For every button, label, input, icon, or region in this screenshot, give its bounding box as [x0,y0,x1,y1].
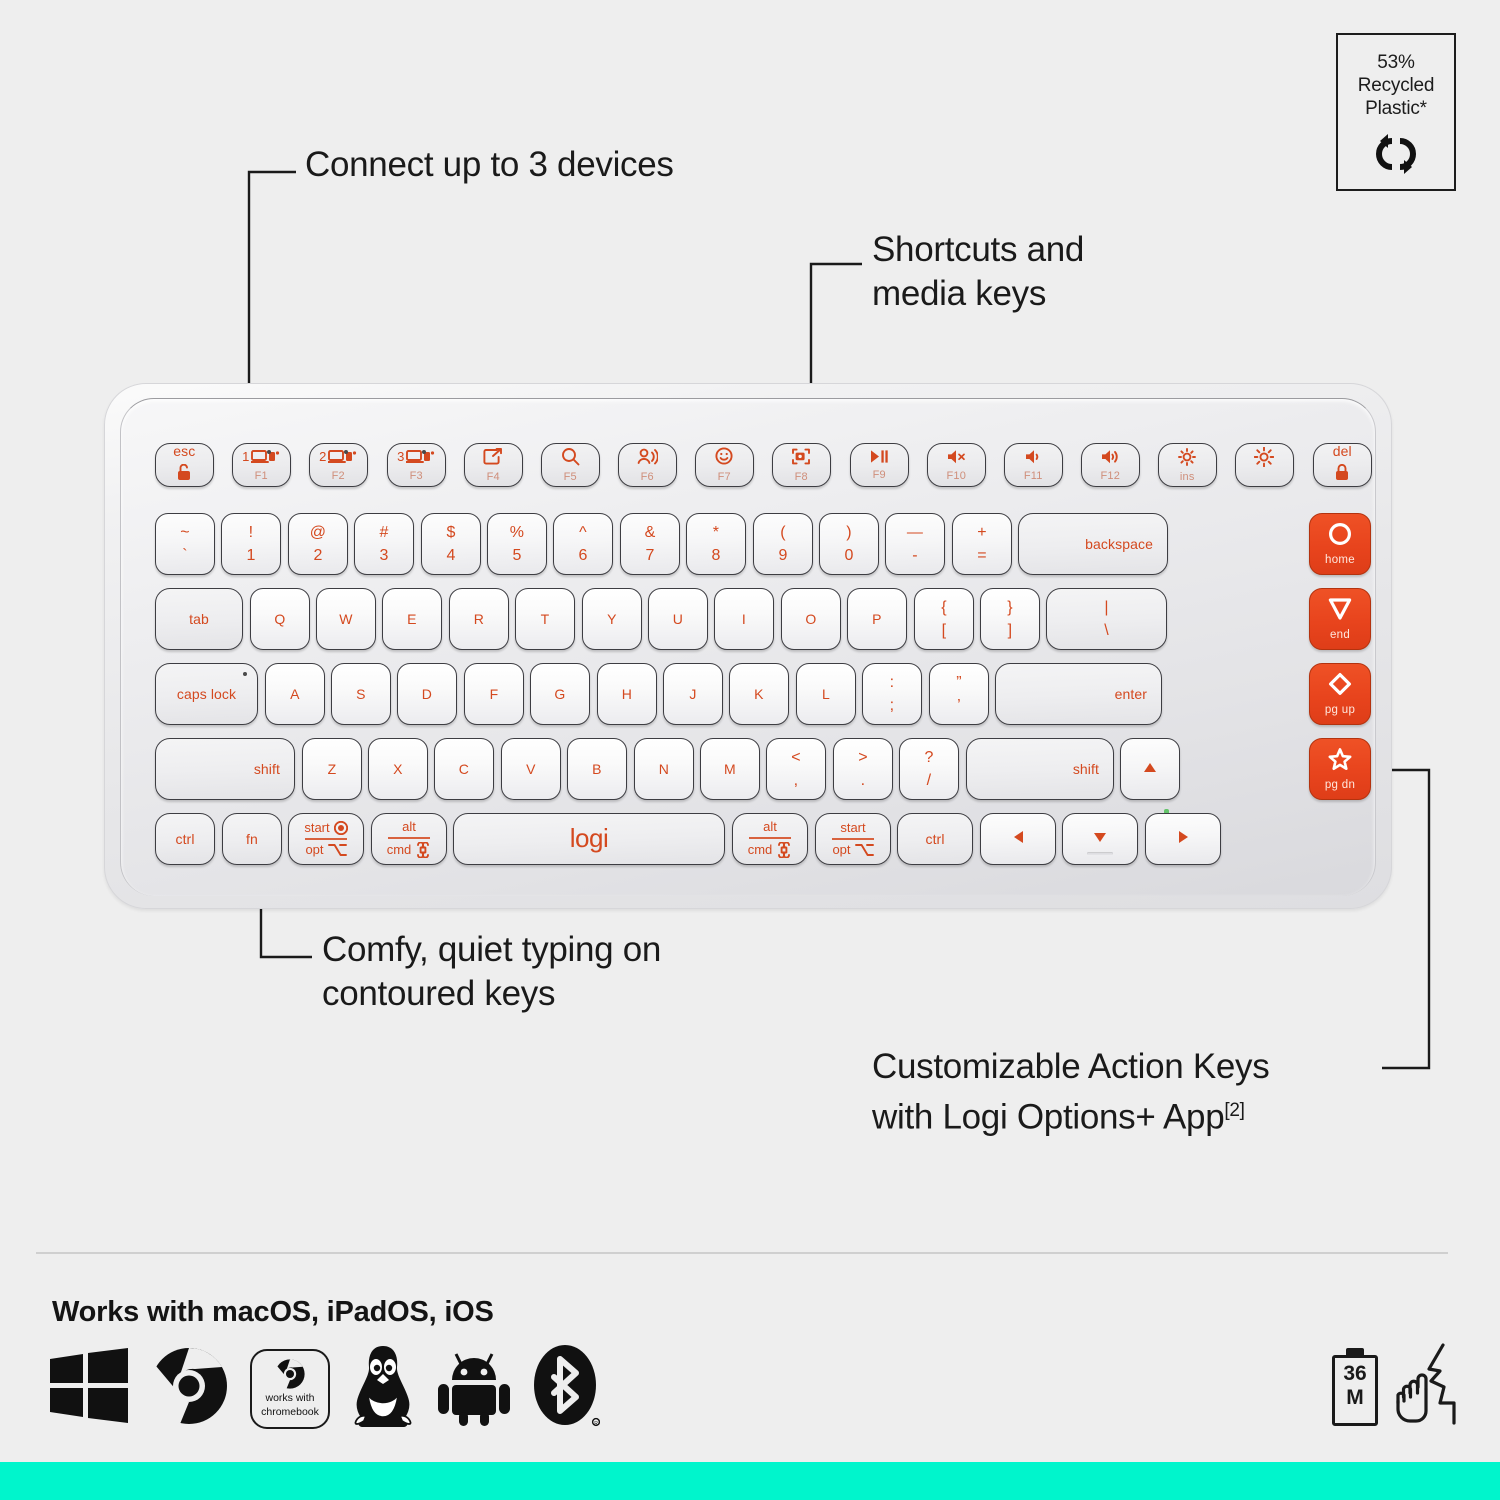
key-[interactable]: + = [952,513,1012,575]
footer-divider [36,1252,1448,1254]
key-label: X [393,762,402,777]
key-label: O [805,612,816,627]
key-label: ctrl [175,832,194,847]
key-legend-bottom: cmd [387,839,432,858]
key-r[interactable]: R [449,588,509,650]
volume-mute-icon [947,449,966,465]
key-c[interactable]: C [434,738,494,800]
key-fn-label [1263,473,1266,484]
brightness-down-icon [1178,448,1196,466]
key-legend-bottom: 0 [844,548,853,564]
key-esc[interactable]: esc [155,443,214,487]
key-start-opt-6[interactable]: start opt [815,813,891,865]
key-legend-bottom: , [794,773,798,789]
arrow-down-icon [1093,831,1107,847]
key-legend-bottom: 1 [246,548,255,564]
key-e[interactable]: E [382,588,442,650]
key-brightness-up-icon[interactable] [1235,443,1294,487]
arrow-left-icon [1013,831,1024,848]
key-led-indicator [243,672,247,676]
key-fn-label: F8 [795,472,808,483]
key-label: esc [173,444,195,459]
key-i[interactable]: I [714,588,774,650]
key-legend-bottom: [ [942,623,946,639]
key-arrow-left[interactable] [980,813,1056,865]
key-enter[interactable]: enter [995,663,1162,725]
key-f5[interactable]: F5 [541,443,600,487]
callout-line: Customizable Action Keys [872,1045,1269,1089]
key-legend-top: + [977,525,986,541]
key-0[interactable]: ) 0 [819,513,879,575]
key-arrow-right[interactable] [1145,813,1221,865]
volume-up-icon [1101,449,1120,465]
key-fn-label: F7 [718,472,731,483]
key-tab[interactable]: tab [155,588,243,650]
key-l[interactable]: L [796,663,856,725]
key-home-bar [1087,852,1113,855]
key-legend-top: start [840,821,865,838]
key-1[interactable]: ! 1 [221,513,281,575]
key-2[interactable]: 2F2 [309,443,368,487]
key-fn-label: F1 [255,471,268,482]
key-legend-bottom: ’ [957,698,961,714]
arrow-right-icon [1178,831,1189,848]
key-dual-legend: start opt [304,821,347,856]
key-[interactable]: < , [766,738,826,800]
key-dual-legend: alt cmd [387,820,432,857]
key-legend-top: ! [249,525,253,541]
keyboard-deck-plate: esc 1F12F23F3F4F5F6F7F8F9F10F11F12ins de… [120,398,1376,896]
key-fn-label: F3 [410,471,423,482]
key-legend-bottom: 6 [578,548,587,564]
key-f4[interactable]: F4 [464,443,523,487]
key-label: I [742,612,746,627]
key-q[interactable]: Q [250,588,310,650]
lock-closed-icon [1334,464,1350,486]
key-f7[interactable]: F7 [695,443,754,487]
key-legend-top: ” [956,675,961,691]
callout-comfy-typing: Comfy, quiet typing on contoured keys [322,928,661,1016]
infographic-canvas: 53% Recycled Plastic* Conn [0,0,1500,1500]
key-label: N [659,762,669,777]
triangle-down-icon [1328,597,1352,625]
callout-action-keys: Customizable Action Keys with Logi Optio… [872,1045,1269,1140]
key-label: S [356,687,365,702]
key-d[interactable]: D [397,663,457,725]
key-fn-label: F12 [1100,471,1120,482]
key-shift[interactable]: shift [155,738,295,800]
key-del[interactable]: del [1313,443,1372,487]
key-legend-bottom: ] [1008,623,1012,639]
key-legend-bottom: ; [890,698,894,714]
brightness-up-icon [1254,447,1274,467]
key-s[interactable]: S [331,663,391,725]
key-legend-top: — [907,525,923,541]
key-arrow-down[interactable] [1062,813,1138,865]
key-label: Q [274,612,285,627]
key-h[interactable]: H [597,663,657,725]
callout-line: Shortcuts and [872,228,1084,272]
os-compatibility-icons: works with chromebook [50,1345,600,1432]
key-label: 3 [397,450,404,464]
windows-icon [50,1348,128,1429]
key-label: F [490,687,499,702]
key-divider [832,838,874,839]
key-m[interactable]: M [700,738,760,800]
key-f11[interactable]: F11 [1004,443,1063,487]
key-z[interactable]: Z [302,738,362,800]
key-start-opt-2[interactable]: start opt [288,813,364,865]
device-connect-icon: 2 [319,448,357,465]
diamond-icon [1328,672,1352,700]
play-pause-icon [870,449,889,464]
action-key-label: pg dn [1325,779,1355,791]
key-label: shift [1073,762,1099,777]
key-[interactable]: ” ’ [929,663,989,725]
key-f6[interactable]: F6 [618,443,677,487]
chromebook-badge-line-1: works with [265,1392,314,1404]
key-deck: esc 1F12F23F3F4F5F6F7F8F9F10F11F12ins de… [155,443,1371,867]
key-f[interactable]: F [464,663,524,725]
key-label: ctrl [925,832,944,847]
key-k[interactable]: K [729,663,789,725]
key-f10[interactable]: F10 [927,443,986,487]
key-label: A [290,687,299,702]
key-legend-top: ( [780,525,785,541]
key-legend-top: & [645,525,656,541]
key-dual-legend: alt cmd [748,820,793,857]
quiet-shush-icon [1396,1343,1458,1430]
key-o[interactable]: O [781,588,841,650]
key-legend-bottom: cmd [748,839,793,858]
key-legend-bottom: ` [182,548,187,564]
key-ctrl-7[interactable]: ctrl [897,813,973,865]
app-switch-icon [483,448,503,466]
key-label: C [459,762,469,777]
key-3[interactable]: 3F3 [387,443,446,487]
key-9[interactable]: ( 9 [753,513,813,575]
key-legend-bottom: 9 [778,548,787,564]
key-legend-top: ~ [180,525,189,541]
key-legend-bottom: 8 [711,548,720,564]
key-j[interactable]: J [663,663,723,725]
key-legend-top: : [890,675,894,691]
key-8[interactable]: * 8 [686,513,746,575]
key-fn-label: F11 [1024,471,1043,482]
key-legend-top: @ [310,525,326,541]
lock-open-icon [176,464,192,486]
key-led-indicator [422,450,426,454]
key-[interactable]: > . [833,738,893,800]
keyboard-body: esc 1F12F23F3F4F5F6F7F8F9F10F11F12ins de… [104,383,1392,909]
key-label: tab [189,612,209,627]
key-label: R [474,612,484,627]
key-backspace[interactable]: backspace [1018,513,1168,575]
feature-icons: 36 M [1332,1343,1458,1430]
option-icon [328,843,347,857]
star-icon [1328,747,1352,775]
key-legend-top: * [713,525,719,541]
key-label: enter [1115,687,1147,702]
key-shift[interactable]: shift [966,738,1114,800]
key-legend-bottom: . [861,773,865,789]
key-divider [305,838,347,839]
battery-icon: 36 M [1332,1348,1378,1426]
bluetooth-icon: R [534,1345,600,1432]
key-label: J [689,687,696,702]
action-key-label: pg up [1325,704,1355,716]
key-f12[interactable]: F12 [1081,443,1140,487]
svg-text:R: R [594,1421,598,1427]
key-label: U [673,612,683,627]
key-legend-top: } [1007,600,1012,616]
callout-line: Connect up to 3 devices [305,143,674,187]
callout-line: media keys [872,272,1084,316]
key-legend-top: | [1104,600,1108,616]
key-n[interactable]: N [634,738,694,800]
key-legend-bottom: = [977,548,986,564]
key-t[interactable]: T [515,588,575,650]
key-label: V [526,762,535,777]
key-label: G [554,687,565,702]
key-fn-1[interactable]: fn [222,813,282,865]
callout-line: contoured keys [322,972,661,1016]
key-led-indicator [344,450,348,454]
search-icon [561,447,580,466]
key-arrow-up[interactable] [1120,738,1180,800]
key-spacebar[interactable]: logi [453,813,725,865]
key-[interactable]: ~ ` [155,513,215,575]
key-fn-label: F10 [946,471,966,482]
key-6[interactable]: ^ 6 [553,513,613,575]
key-label: P [872,612,881,627]
key-x[interactable]: X [368,738,428,800]
callout-line: with Logi Options+ App[2] [872,1089,1269,1140]
bottom-accent-bar [0,1462,1500,1500]
device-connect-icon: 3 [397,448,435,465]
key-label: T [541,612,550,627]
battery-value: 36 [1332,1362,1378,1386]
key-legend-top: < [791,750,800,766]
command-icon [415,842,431,858]
key-fn-label: ins [1180,472,1195,483]
volume-down-icon [1025,449,1042,465]
key-alt-cmd-3[interactable]: alt cmd [371,813,447,865]
callout-line: Comfy, quiet typing on [322,928,661,972]
key-w[interactable]: W [316,588,376,650]
key-[interactable]: } ] [980,588,1040,650]
key-legend-top: ^ [579,525,587,541]
key-caps-lock[interactable]: caps lock [155,663,258,725]
key-fn-label: F6 [641,472,654,483]
key-legend-top: alt [763,820,777,837]
linux-tux-icon [352,1345,414,1432]
key-alt-cmd-5[interactable]: alt cmd [732,813,808,865]
key-divider [749,837,791,838]
key-legend-top: % [510,525,524,541]
key-label: L [822,687,830,702]
screenshot-icon [792,448,811,466]
key-fn-label: F5 [564,472,577,483]
key-label: Y [607,612,616,627]
key-[interactable]: | \ [1046,588,1167,650]
callout-shortcuts-media: Shortcuts and media keys [872,228,1084,316]
chromebook-badge-line-2: chromebook [261,1406,319,1418]
key-g[interactable]: G [530,663,590,725]
key-label: shift [254,762,280,777]
key-label: del [1333,444,1352,459]
callout-line-text: with Logi Options+ App [872,1098,1224,1137]
battery-unit: M [1332,1386,1378,1410]
key-divider [388,837,430,838]
key-b[interactable]: B [567,738,627,800]
key-label: backspace [1085,537,1153,552]
key-legend-bottom: opt [832,840,873,857]
key-led-indicator [267,450,271,454]
key-f9[interactable]: F9 [850,443,909,487]
footnote-marker: [2] [1224,1100,1244,1121]
key-[interactable]: — - [885,513,945,575]
key-label: D [422,687,432,702]
callout-connect-devices: Connect up to 3 devices [305,143,674,187]
key-label: fn [246,832,258,847]
key-legend-top: > [858,750,867,766]
key-label: E [407,612,416,627]
key-fn-label: F4 [487,472,500,483]
key-legend-top: start [304,821,347,838]
arrow-up-icon [1143,761,1157,777]
key-label: caps lock [177,687,236,702]
key-label: H [622,687,632,702]
action-key-home[interactable]: home [1309,513,1371,575]
key-fn-label: F2 [332,471,345,482]
key-[interactable]: ? / [899,738,959,800]
circle-icon [1328,522,1352,550]
key-label: K [754,687,763,702]
action-key-label: home [1325,554,1355,566]
key-legend-bottom: 5 [512,548,521,564]
key-legend-top: $ [446,525,455,541]
key-7[interactable]: & 7 [620,513,680,575]
action-key-pg-dn[interactable]: pg dn [1309,738,1371,800]
key-ctrl-0[interactable]: ctrl [155,813,215,865]
key-[interactable]: { [ [914,588,974,650]
key-3[interactable]: # 3 [354,513,414,575]
emoji-icon [715,447,734,466]
key-legend-bottom: 2 [313,548,322,564]
key-legend-bottom: 3 [379,548,388,564]
key-legend-bottom: 7 [645,548,654,564]
key-2[interactable]: @ 2 [288,513,348,575]
android-icon [436,1346,512,1431]
key-y[interactable]: Y [582,588,642,650]
key-legend-top: { [941,600,946,616]
key-legend-top: # [379,525,388,541]
key-legend-bottom: opt [305,840,346,857]
compatibility-title: Works with macOS, iPadOS, iOS [52,1296,494,1329]
key-label: W [339,612,352,627]
windows-dot-icon [334,821,348,835]
key-p[interactable]: P [847,588,907,650]
key-[interactable]: : ; [862,663,922,725]
option-icon [855,843,874,857]
key-f8[interactable]: F8 [772,443,831,487]
dictation-icon [637,448,658,466]
key-label: B [592,762,601,777]
action-key-pg-up[interactable]: pg up [1309,663,1371,725]
key-u[interactable]: U [648,588,708,650]
key-4[interactable]: $ 4 [421,513,481,575]
chrome-icon [150,1347,228,1430]
key-legend-bottom: \ [1104,623,1108,639]
key-legend-bottom: 4 [446,548,455,564]
key-label: 2 [319,450,326,464]
key-legend-top: alt [402,820,416,837]
key-a[interactable]: A [265,663,325,725]
key-label: Z [328,762,337,777]
key-ins[interactable]: ins [1158,443,1217,487]
action-key-end[interactable]: end [1309,588,1371,650]
action-key-label: end [1330,629,1350,641]
key-legend-top: ? [924,750,933,766]
key-fn-label: F9 [873,470,886,481]
chromebook-badge-icon: works with chromebook [250,1349,330,1429]
key-label: M [724,762,736,777]
key-1[interactable]: 1F1 [232,443,291,487]
key-legend-bottom: / [927,773,931,789]
logi-wordmark: logi [570,825,608,852]
key-legend-bottom: - [912,548,917,564]
key-legend-top: ) [846,525,851,541]
key-5[interactable]: % 5 [487,513,547,575]
command-icon [776,842,792,858]
device-connect-icon: 1 [242,448,280,465]
key-v[interactable]: V [501,738,561,800]
key-dual-legend: start opt [832,821,874,856]
key-label: 1 [242,450,249,464]
